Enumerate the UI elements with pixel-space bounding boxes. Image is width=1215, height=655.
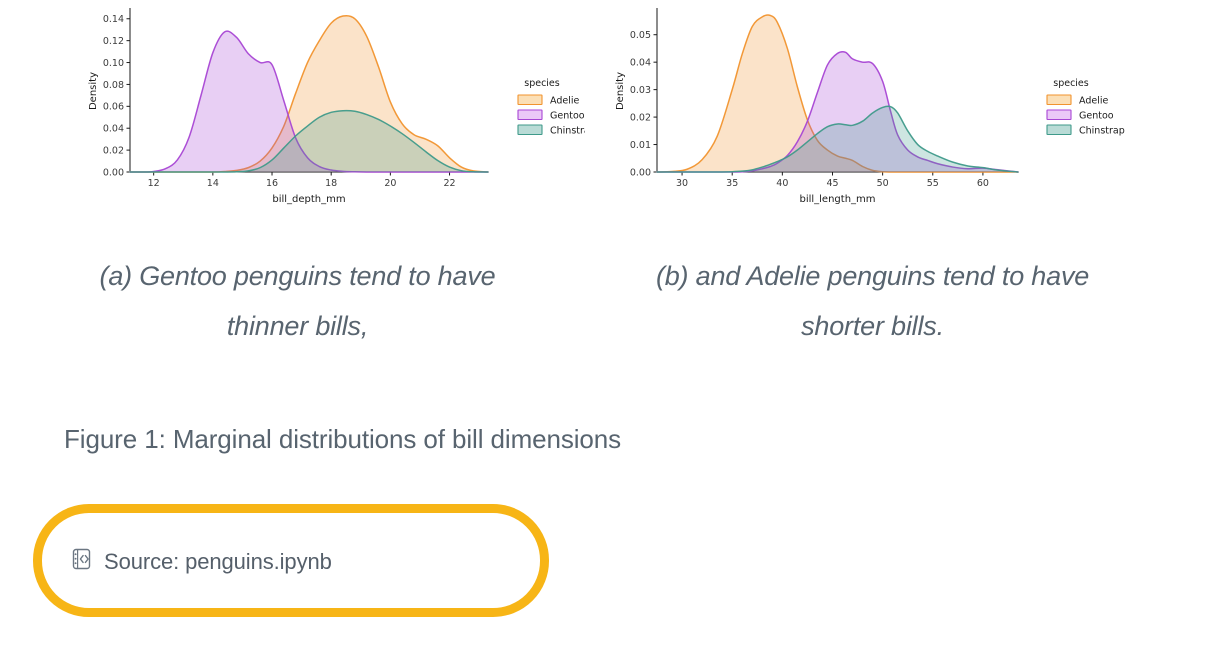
bill-length-kde-plot: 0.000.010.020.030.040.0530354045505560bi… [585, 0, 1160, 215]
svg-text:bill_depth_mm: bill_depth_mm [272, 194, 345, 205]
svg-text:0.12: 0.12 [103, 36, 124, 47]
svg-text:Gentoo: Gentoo [550, 110, 585, 121]
svg-text:0.02: 0.02 [103, 146, 124, 157]
subfigure-a: 0.000.020.040.060.080.100.120.1412141618… [10, 0, 585, 351]
svg-text:14: 14 [207, 178, 219, 189]
subfigure-b: 0.000.010.020.030.040.0530354045505560bi… [585, 0, 1160, 351]
svg-text:Density: Density [615, 72, 626, 110]
svg-text:0.06: 0.06 [103, 102, 124, 113]
bill-depth-chart: 0.000.020.040.060.080.100.120.1412141618… [10, 0, 585, 215]
svg-text:0.10: 0.10 [103, 58, 124, 69]
svg-text:Adelie: Adelie [550, 95, 579, 106]
svg-text:0.05: 0.05 [630, 30, 651, 41]
source-highlight-box[interactable]: Source: penguins.ipynb [33, 504, 549, 617]
svg-text:0.00: 0.00 [630, 167, 651, 178]
svg-text:Chinstrap: Chinstrap [1079, 125, 1125, 136]
subfigure-row: 0.000.020.040.060.080.100.120.1412141618… [0, 0, 1170, 351]
svg-text:species: species [524, 78, 560, 89]
svg-text:45: 45 [826, 178, 838, 189]
svg-text:50: 50 [877, 178, 889, 189]
figure-caption: Figure 1: Marginal distributions of bill… [64, 424, 621, 455]
svg-text:12: 12 [148, 178, 160, 189]
subfigure-b-caption: (b) and Adelie penguins tend to have sho… [633, 251, 1113, 351]
svg-text:60: 60 [977, 178, 989, 189]
svg-text:20: 20 [384, 178, 396, 189]
svg-text:0.04: 0.04 [630, 58, 651, 69]
svg-text:0.03: 0.03 [630, 85, 651, 96]
svg-text:0.08: 0.08 [103, 80, 124, 91]
svg-text:0.14: 0.14 [103, 14, 124, 25]
svg-text:35: 35 [726, 178, 738, 189]
svg-text:55: 55 [927, 178, 939, 189]
svg-text:species: species [1053, 78, 1089, 89]
bill-depth-kde-plot: 0.000.020.040.060.080.100.120.1412141618… [10, 0, 585, 215]
svg-text:16: 16 [266, 178, 278, 189]
svg-text:18: 18 [325, 178, 337, 189]
svg-text:Adelie: Adelie [1079, 95, 1108, 106]
svg-text:Chinstrap: Chinstrap [550, 125, 585, 136]
svg-text:0.01: 0.01 [630, 140, 651, 151]
bill-length-chart: 0.000.010.020.030.040.0530354045505560bi… [585, 0, 1160, 215]
svg-text:Density: Density [88, 72, 99, 110]
source-link[interactable]: Source: penguins.ipynb [70, 547, 332, 576]
svg-text:0.00: 0.00 [103, 167, 124, 178]
subfigure-a-caption: (a) Gentoo penguins tend to have thinner… [58, 251, 538, 351]
svg-text:22: 22 [443, 178, 455, 189]
svg-text:40: 40 [776, 178, 788, 189]
svg-text:bill_length_mm: bill_length_mm [799, 194, 875, 205]
source-label: Source: penguins.ipynb [104, 549, 332, 575]
svg-text:0.04: 0.04 [103, 124, 124, 135]
svg-text:30: 30 [676, 178, 688, 189]
svg-text:Gentoo: Gentoo [1079, 110, 1114, 121]
svg-text:0.02: 0.02 [630, 112, 651, 123]
notebook-code-icon [70, 547, 93, 576]
figure-block: 0.000.020.040.060.080.100.120.1412141618… [0, 0, 1215, 351]
